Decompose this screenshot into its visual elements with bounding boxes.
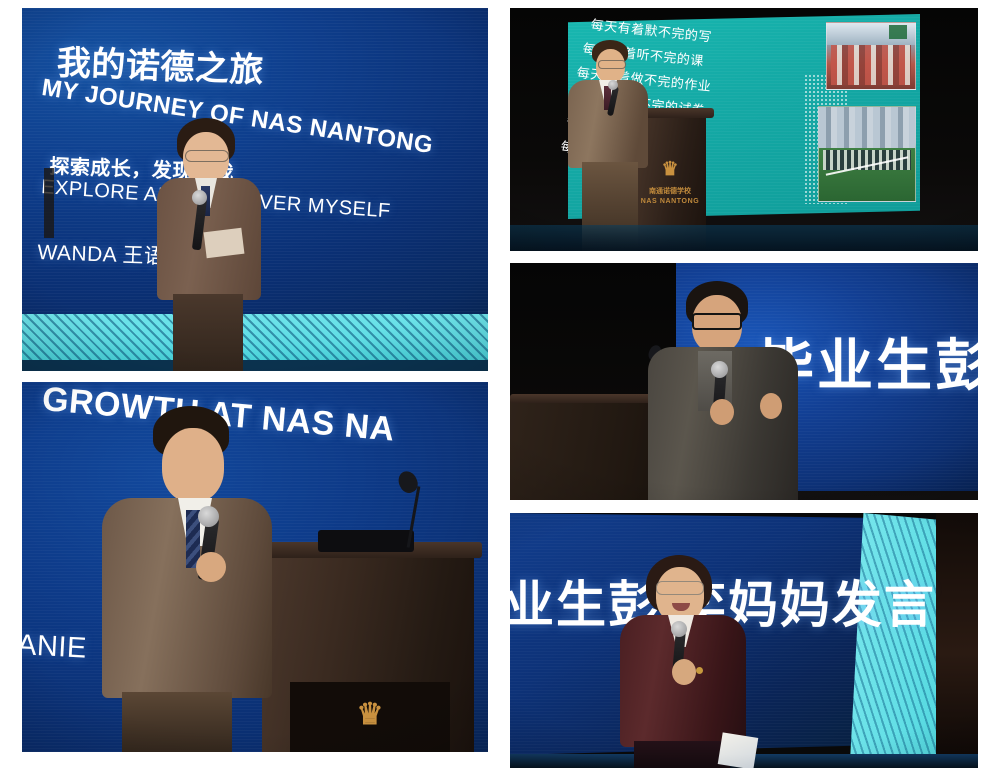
glasses-icon <box>692 313 742 330</box>
slide-thumbnail-classroom <box>826 22 916 90</box>
speaker-figure <box>642 281 832 500</box>
stage-side-prop <box>44 168 54 238</box>
speaker-figure <box>568 40 654 251</box>
crown-icon: ♛ <box>322 700 418 730</box>
microphone-head <box>608 80 618 90</box>
photo-bottom-left[interactable]: GROWTH AT NAS NA ANIE ♛ <box>22 382 488 752</box>
trousers <box>173 294 243 371</box>
glasses-icon <box>656 581 704 595</box>
speaker-figure <box>616 555 756 768</box>
speech-notes <box>718 732 759 768</box>
hand-left <box>710 399 734 425</box>
microphone-head <box>192 190 207 205</box>
hand-right <box>760 393 782 419</box>
podium-monitor <box>318 530 414 552</box>
photo-bottom-right[interactable]: 业生彭 奕妈妈发言 <box>510 513 978 768</box>
hand <box>672 659 696 685</box>
slide-thumbnail-campus <box>818 106 916 202</box>
blazer-button-2 <box>696 667 703 674</box>
slide-speaker-line: ANIE <box>22 629 88 666</box>
microphone-head <box>711 361 728 378</box>
stage-stripe-band <box>850 513 946 761</box>
photo-top-right[interactable]: 每天有着默不完的写 每天有着听不完的课 每天有着做不完的作业 每天有着写不完的试… <box>510 8 978 251</box>
photo-top-left[interactable]: 我的诺德之旅 MY JOURNEY OF NAS NANTONG 探索成长，发现… <box>22 8 488 371</box>
photo-middle-right[interactable]: 毕业生彭 <box>510 263 978 500</box>
skirt <box>634 741 730 768</box>
glasses-icon <box>598 60 626 69</box>
auditorium-dark-area <box>936 513 978 768</box>
speaker-figure <box>100 406 290 752</box>
microphone-head <box>198 506 219 527</box>
glasses-icon <box>185 150 229 162</box>
hand <box>196 552 226 582</box>
microphone-head <box>671 621 687 637</box>
head <box>162 428 224 502</box>
speaker-figure <box>147 118 277 371</box>
trousers <box>122 692 232 752</box>
photo-collage: 我的诺德之旅 MY JOURNEY OF NAS NANTONG 探索成长，发现… <box>0 0 1000 768</box>
hand-papers <box>204 228 245 258</box>
stage-floor <box>510 225 978 251</box>
